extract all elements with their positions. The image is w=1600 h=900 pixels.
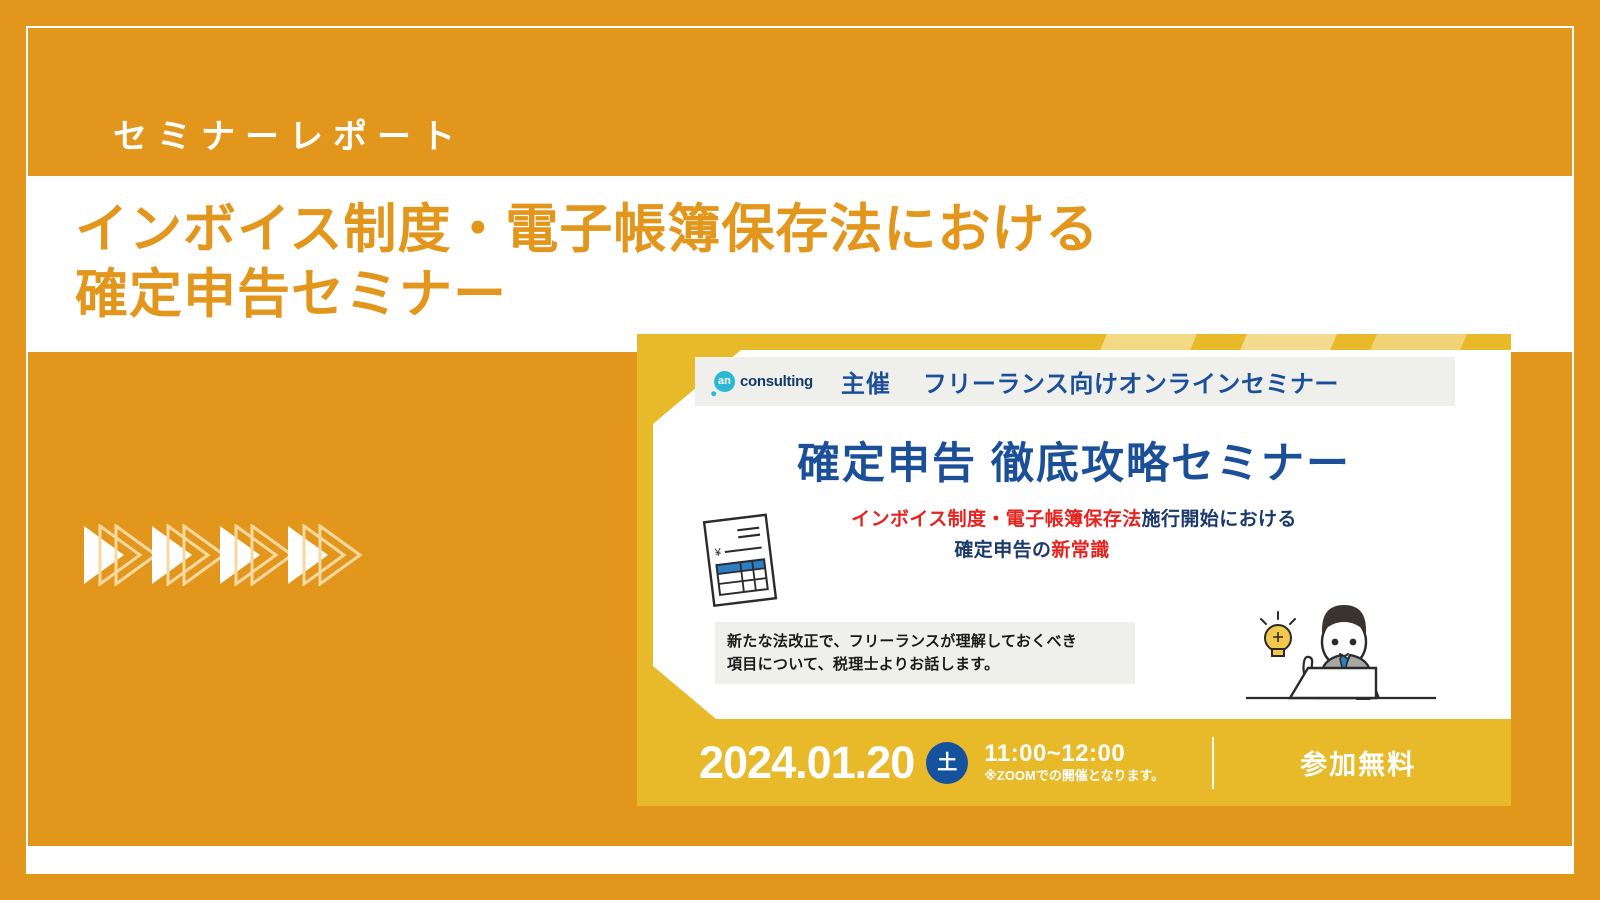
businessman-laptop-illustration bbox=[1246, 586, 1436, 731]
participation-fee: 参加無料 bbox=[1300, 743, 1416, 782]
day-of-week-badge: 土 bbox=[926, 742, 968, 784]
zoom-note: ※ZOOMでの開催となります。 bbox=[984, 768, 1164, 784]
subtitle-highlight-new: 新常識 bbox=[1051, 540, 1109, 561]
an-logo-blob-icon: an bbox=[713, 370, 736, 393]
seminar-report-label: セミナーレポート bbox=[113, 120, 465, 154]
title-band: インボイス制度・電子帳簿保存法における 確定申告セミナー bbox=[28, 176, 1288, 352]
time-block: 11:00~12:00 ※ZOOMでの開催となります。 bbox=[984, 741, 1164, 784]
lightbulb-icon bbox=[1261, 612, 1295, 656]
description-text: 新たな法改正で、フリーランスが理解しておくべき 項目について、税理士よりお話しま… bbox=[727, 630, 1077, 677]
page-title: インボイス制度・電子帳簿保存法における 確定申告セミナー bbox=[75, 198, 1099, 327]
day-of-week-text: 土 bbox=[937, 753, 957, 773]
poster-title: 確定申告 徹底攻略セミナー bbox=[637, 443, 1511, 486]
subtitle-highlight-laws: インボイス制度・電子帳簿保存法 bbox=[851, 509, 1141, 530]
description-box: 新たな法改正で、フリーランスが理解しておくべき 項目について、税理士よりお話しま… bbox=[715, 622, 1135, 684]
seminar-time: 11:00~12:00 bbox=[984, 741, 1164, 766]
seminar-report-banner: セミナーレポート インボイス制度・電子帳簿保存法における 確定申告セミナー bbox=[0, 0, 1600, 900]
logo-wordmark: consulting bbox=[740, 373, 813, 390]
poster-footer: 2024.01.20 土 11:00~12:00 ※ZOOMでの開催となります。… bbox=[637, 719, 1511, 806]
poster-header-strip: an consulting 主催 フリーランス向けオンラインセミナー bbox=[637, 357, 1511, 406]
label-band: セミナーレポート bbox=[28, 28, 1572, 176]
host-label: 主催 bbox=[841, 364, 891, 399]
seminar-tagline: フリーランス向けオンラインセミナー bbox=[923, 364, 1339, 399]
logo-mark-text: an bbox=[718, 376, 731, 387]
invoice-document-icon: ¥ bbox=[697, 512, 787, 608]
footer-divider bbox=[1212, 737, 1214, 789]
double-chevron-arrows-icon bbox=[84, 524, 384, 586]
an-consulting-logo: an consulting bbox=[714, 371, 813, 392]
subtitle-rest-1: 施行開始における bbox=[1142, 509, 1297, 530]
subtitle-rest-2: 確定申告の bbox=[954, 540, 1051, 561]
seminar-date: 2024.01.20 bbox=[699, 740, 914, 785]
